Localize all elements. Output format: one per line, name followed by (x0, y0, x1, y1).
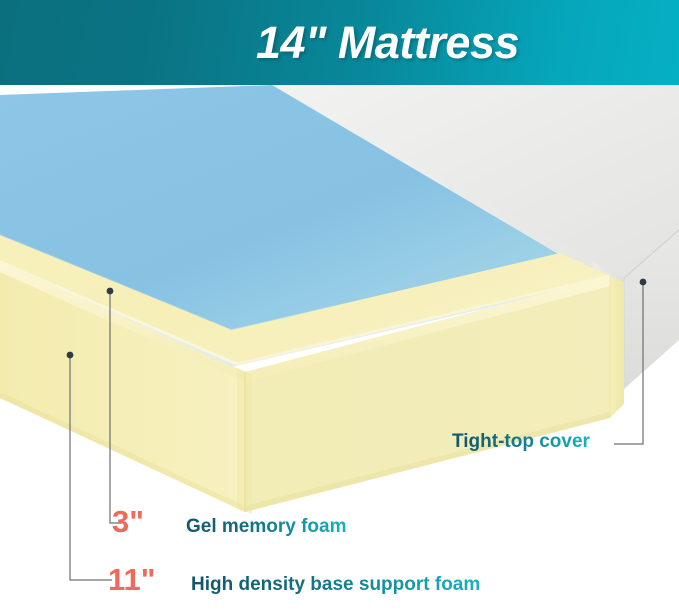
measurement-gel-memory-foam: 3" (112, 504, 144, 540)
product-infographic: 14" Mattress (0, 0, 679, 613)
label-base-support-foam: High density base support foam (191, 574, 480, 596)
measurement-base-support-foam: 11" (108, 562, 155, 598)
label-gel-memory-foam: Gel memory foam (186, 516, 347, 538)
label-tight-top-cover: Tight-top cover (452, 431, 590, 453)
